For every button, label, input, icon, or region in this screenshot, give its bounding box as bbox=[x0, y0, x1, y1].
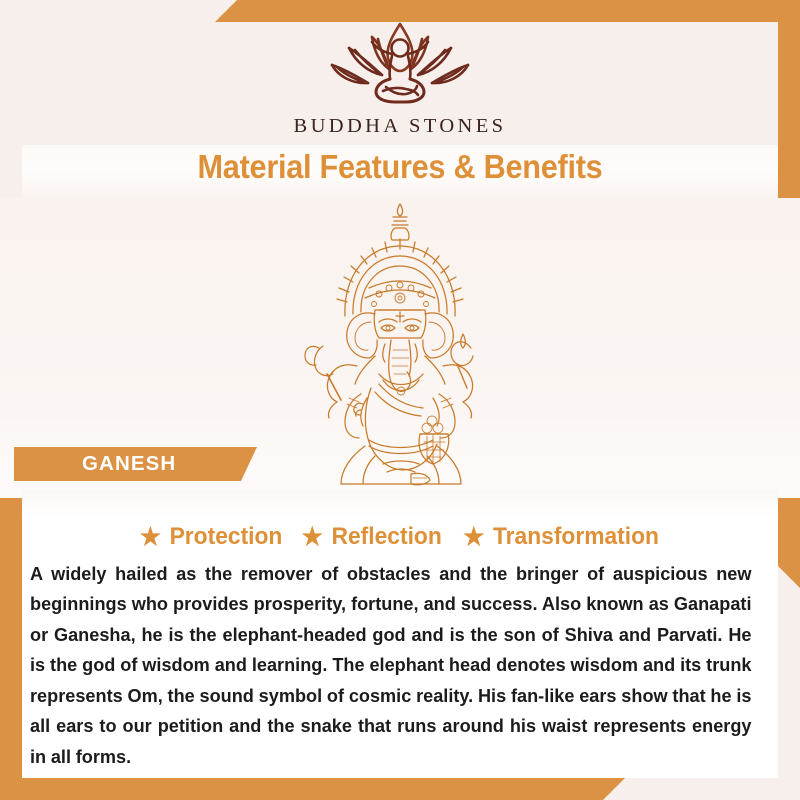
page-title: Material Features & Benefits bbox=[28, 148, 772, 186]
deity-name-label: GANESH bbox=[82, 452, 176, 476]
description-text: A widely hailed as the remover of obstac… bbox=[30, 559, 752, 772]
keyword-row: ★ Protection ★ Reflection ★ Transformati… bbox=[22, 523, 778, 551]
lotus-meditation-figure-icon bbox=[320, 18, 480, 110]
description-panel: ★ Protection ★ Reflection ★ Transformati… bbox=[22, 489, 778, 778]
keyword-reflection: ★ Reflection bbox=[302, 523, 442, 551]
keyword-label: Transformation bbox=[493, 523, 659, 551]
star-icon: ★ bbox=[302, 525, 323, 550]
poster-canvas: BUDDHA STONES Material Features & Benefi… bbox=[0, 0, 800, 800]
frame-band-bottom bbox=[0, 778, 625, 800]
keyword-transformation: ★ Transformation bbox=[463, 523, 659, 551]
keyword-protection: ★ Protection bbox=[140, 523, 283, 551]
keyword-label: Protection bbox=[170, 523, 283, 551]
brand-logo-block: BUDDHA STONES bbox=[0, 18, 800, 138]
deity-name-banner: GANESH bbox=[14, 447, 257, 481]
star-icon: ★ bbox=[140, 525, 161, 550]
ganesh-line-art-illustration bbox=[275, 198, 525, 490]
star-icon: ★ bbox=[463, 525, 484, 550]
keyword-label: Reflection bbox=[332, 523, 442, 551]
brand-wordmark: BUDDHA STONES bbox=[294, 115, 507, 138]
